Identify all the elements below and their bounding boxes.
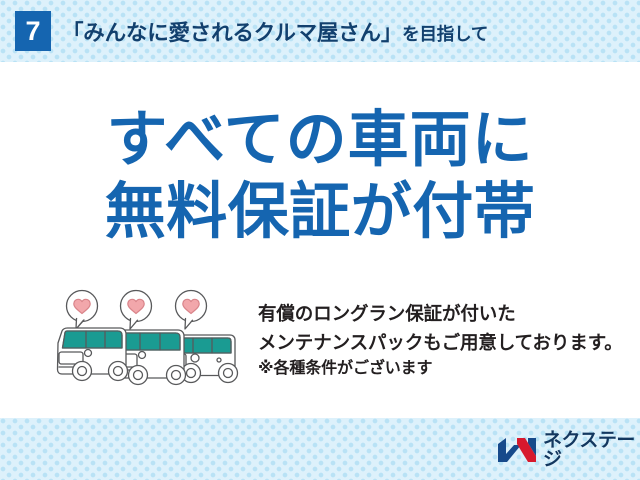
promo-slide: 7 「みんなに愛されるクルマ屋さん」 を目指して すべての車両に 無料保証が付帯	[0, 0, 640, 480]
heart-bubble-2	[121, 291, 152, 330]
body-copy-note: ※各種条件がございます	[258, 357, 628, 382]
headline: すべての車両に 無料保証が付帯	[0, 104, 640, 248]
content-row: 有償のロングラン保証が付いた メンテナンスパックもご用意しております。 ※各種条…	[0, 288, 640, 398]
body-copy-line-1: 有償のロングラン保証が付いた	[258, 300, 628, 329]
step-number-badge: 7	[15, 11, 51, 51]
header-title: 「みんなに愛されるクルマ屋さん」 を目指して	[62, 16, 488, 47]
brand-logo: ネクステージ	[497, 436, 640, 464]
car-kei-wagon	[58, 328, 128, 381]
header-title-main: 「みんなに愛されるクルマ屋さん」	[62, 16, 402, 47]
body-copy-line-2: メンテナンスパックもご用意しております。	[258, 329, 628, 358]
heart-bubble-1	[67, 291, 98, 330]
brand-name: ネクステージ	[543, 431, 640, 469]
cars-illustration	[52, 288, 252, 398]
headline-line-1: すべての車両に	[0, 104, 640, 176]
headline-line-2: 無料保証が付帯	[0, 176, 640, 248]
heart-bubble-3	[176, 291, 207, 330]
nextage-n-logo-icon	[497, 437, 537, 463]
body-copy: 有償のロングラン保証が付いた メンテナンスパックもご用意しております。 ※各種条…	[258, 300, 628, 382]
header-title-suffix: を目指して	[402, 21, 488, 46]
header: 7 「みんなに愛されるクルマ屋さん」 を目指して	[0, 0, 640, 62]
